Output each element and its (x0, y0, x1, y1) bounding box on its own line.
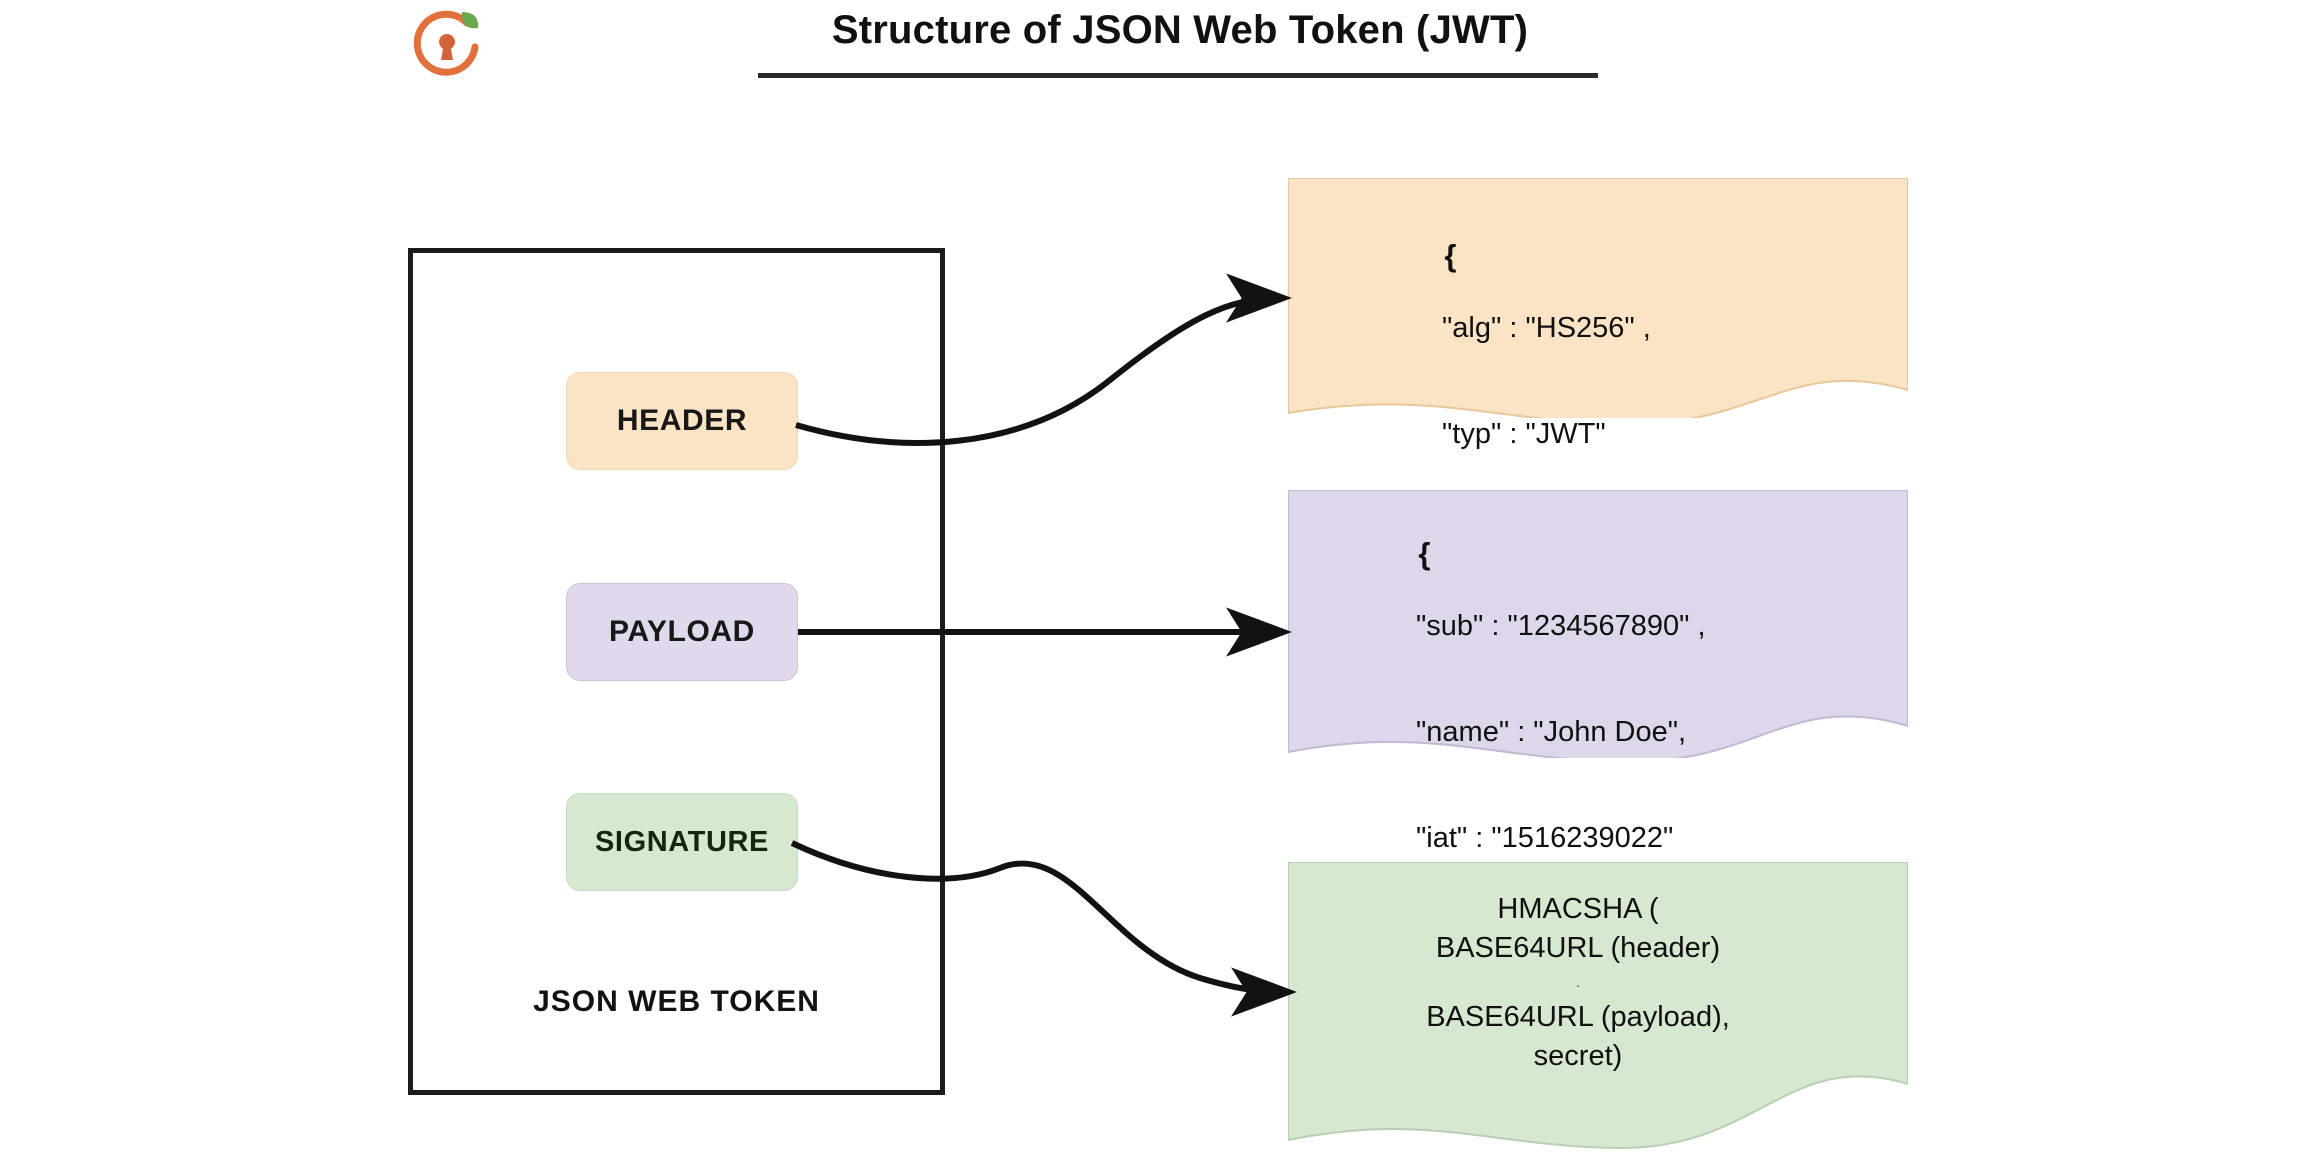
connector-layer (0, 0, 2304, 1152)
circular-keyhole-leaf-logo (404, 6, 490, 86)
payload-open-brace: { (1418, 536, 1430, 571)
token-part-signature-label: SIGNATURE (595, 826, 769, 859)
token-part-signature[interactable]: SIGNATURE (566, 793, 798, 891)
jwt-container-label: JSON WEB TOKEN (408, 985, 945, 1019)
signature-line-1: BASE64URL (header) (1288, 929, 1868, 968)
signature-line-4: secret) (1288, 1037, 1868, 1076)
signature-formula-panel: HMACSHA ( BASE64URL (header) . BASE64URL… (1288, 862, 1908, 1152)
header-open-brace: { (1444, 238, 1456, 273)
token-part-payload-label: PAYLOAD (609, 615, 755, 649)
token-part-header-label: HEADER (617, 404, 747, 438)
header-json-panel: { "alg" : "HS256" , "typ" : "JWT" } (1288, 178, 1908, 418)
signature-line-2: . (1288, 968, 1868, 998)
title-underline (758, 73, 1598, 78)
signature-line-0: HMACSHA ( (1288, 890, 1868, 929)
header-json-line-0: "alg" : "HS256" , (1396, 311, 1908, 346)
token-part-payload[interactable]: PAYLOAD (566, 583, 798, 681)
signature-formula-text: HMACSHA ( BASE64URL (header) . BASE64URL… (1288, 890, 1908, 1076)
payload-json-line-2: "iat" : "1516239022" (1370, 821, 1908, 856)
token-part-header[interactable]: HEADER (566, 372, 798, 470)
payload-json-line-0: "sub" : "1234567890" , (1370, 609, 1908, 644)
payload-json-panel: { "sub" : "1234567890" , "name" : "John … (1288, 490, 1908, 758)
header-json-line-1: "typ" : "JWT" (1396, 417, 1908, 452)
signature-line-3: BASE64URL (payload), (1288, 998, 1868, 1037)
diagram-canvas: Structure of JSON Web Token (JWT) HEADER… (0, 0, 2304, 1152)
page-title: Structure of JSON Web Token (JWT) (760, 8, 1600, 53)
payload-json-line-1: "name" : "John Doe", (1370, 715, 1908, 750)
